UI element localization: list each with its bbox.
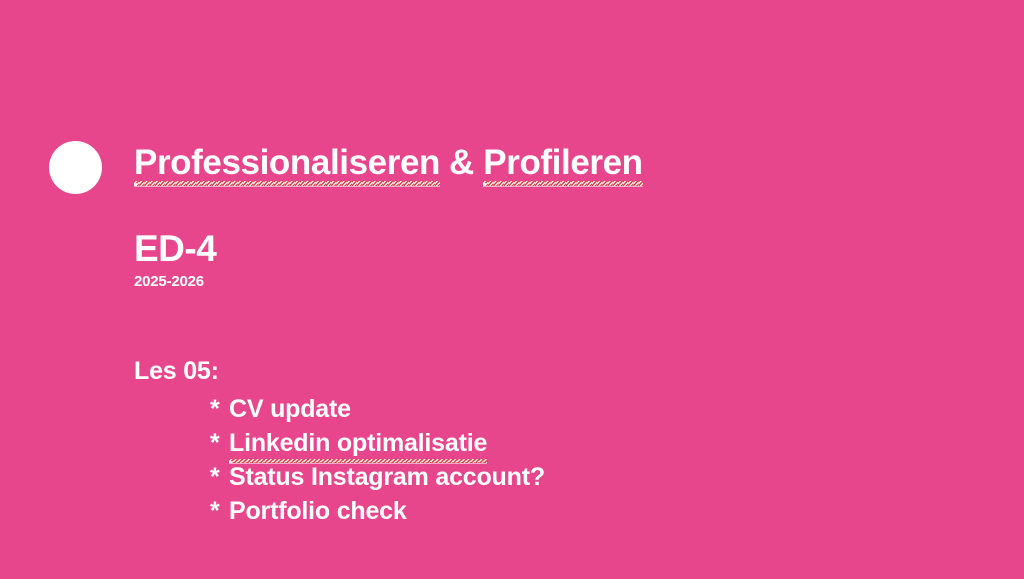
list-item: * Status Instagram account? (210, 460, 545, 494)
slide-title-part-2: Profileren (483, 145, 642, 182)
list-item-label: CV update (229, 392, 351, 426)
course-code: ED-4 (134, 230, 216, 267)
list-item: * CV update (210, 392, 545, 426)
lesson-agenda-list: * CV update * Linkedin optimalisatie * S… (210, 392, 545, 528)
list-item-label: Status Instagram account? (229, 460, 545, 494)
white-circle-bullet-icon (49, 141, 102, 194)
asterisk-bullet-icon: * (210, 392, 229, 426)
slide-title: Professionaliseren & Profileren (134, 145, 643, 182)
slide-title-part-1: Professionaliseren (134, 145, 440, 182)
lesson-heading: Les 05: (134, 359, 219, 384)
slide-title-separator: & (440, 145, 483, 180)
presentation-slide: Professionaliseren & Profileren ED-4 202… (0, 0, 1024, 579)
asterisk-bullet-icon: * (210, 426, 229, 460)
list-item-label: Portfolio check (229, 494, 407, 528)
asterisk-bullet-icon: * (210, 494, 229, 528)
asterisk-bullet-icon: * (210, 460, 229, 494)
list-item: * Linkedin optimalisatie (210, 426, 545, 460)
list-item-label: Linkedin optimalisatie (229, 426, 487, 460)
list-item: * Portfolio check (210, 494, 545, 528)
course-academic-year: 2025-2026 (134, 274, 204, 289)
